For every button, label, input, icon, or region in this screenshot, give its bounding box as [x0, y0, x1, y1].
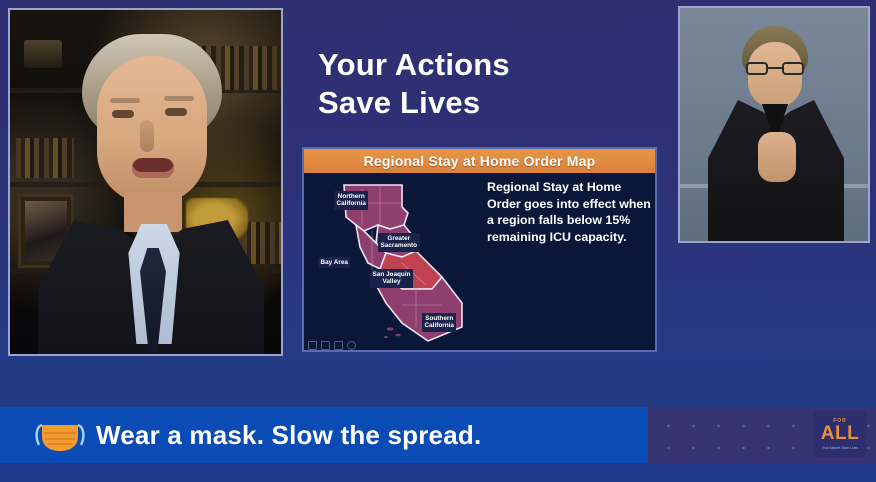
slide-title: Your Actions Save Lives [318, 46, 738, 122]
regional-map-card: Regional Stay at Home Order Map [302, 147, 657, 352]
square-icon[interactable] [334, 341, 343, 350]
branding-panel: FOR ALL Your Actions Save Lives [648, 407, 876, 463]
speaker-nose [140, 120, 154, 152]
public-health-banner: Wear a mask. Slow the spread. [0, 407, 648, 463]
speaker-eyebrow [110, 98, 140, 103]
logo-all-text: ALL [821, 424, 859, 443]
speaker-video-panel[interactable] [8, 8, 283, 356]
speaker-eyebrow [164, 96, 194, 101]
asl-interpreter-figure [714, 26, 838, 243]
map-label-southern-california: Southern California [422, 313, 456, 332]
square-icon[interactable] [321, 341, 330, 350]
circle-icon[interactable] [347, 341, 356, 350]
california-map: Northern California Greater Sacramento B… [316, 177, 496, 349]
slide-title-line-2: Save Lives [318, 84, 738, 122]
speaker-eye [165, 108, 187, 116]
map-label-greater-sacramento: Greater Sacramento [378, 233, 420, 252]
map-label-northern-california: Northern California [334, 191, 368, 210]
map-label-bay-area: Bay Area [318, 257, 350, 268]
face-mask-icon [32, 415, 88, 455]
map-label-san-joaquin-valley: San Joaquin Valley [370, 269, 413, 288]
map-card-body: Northern California Greater Sacramento B… [304, 173, 655, 352]
logo-tagline: Your Actions Save Lives [822, 446, 858, 451]
for-all-logo: FOR ALL Your Actions Save Lives [814, 411, 866, 457]
banner-bottom-strip [0, 463, 876, 482]
slide-title-line-1: Your Actions [318, 46, 738, 84]
map-card-note: Regional Stay at Home Order goes into ef… [487, 179, 653, 246]
broadcast-screen: Your Actions Save Lives Regional Stay at… [0, 0, 876, 482]
asl-face [748, 42, 802, 108]
map-card-header-label: Regional Stay at Home Order Map [364, 153, 596, 169]
speaker-figure [52, 34, 250, 356]
pencil-icon[interactable] [308, 341, 317, 350]
banner-message: Wear a mask. Slow the spread. [96, 420, 481, 451]
map-toolbar-icons[interactable] [308, 341, 356, 350]
map-card-header: Regional Stay at Home Order Map [304, 149, 655, 173]
banner-top-strip [0, 399, 876, 407]
speaker-eye [112, 110, 134, 118]
asl-signing-hands [758, 132, 796, 182]
speaker-mouth [132, 158, 174, 178]
channel-islands [384, 327, 401, 338]
asl-interpreter-panel[interactable] [678, 6, 870, 243]
glasses-icon [746, 62, 804, 75]
